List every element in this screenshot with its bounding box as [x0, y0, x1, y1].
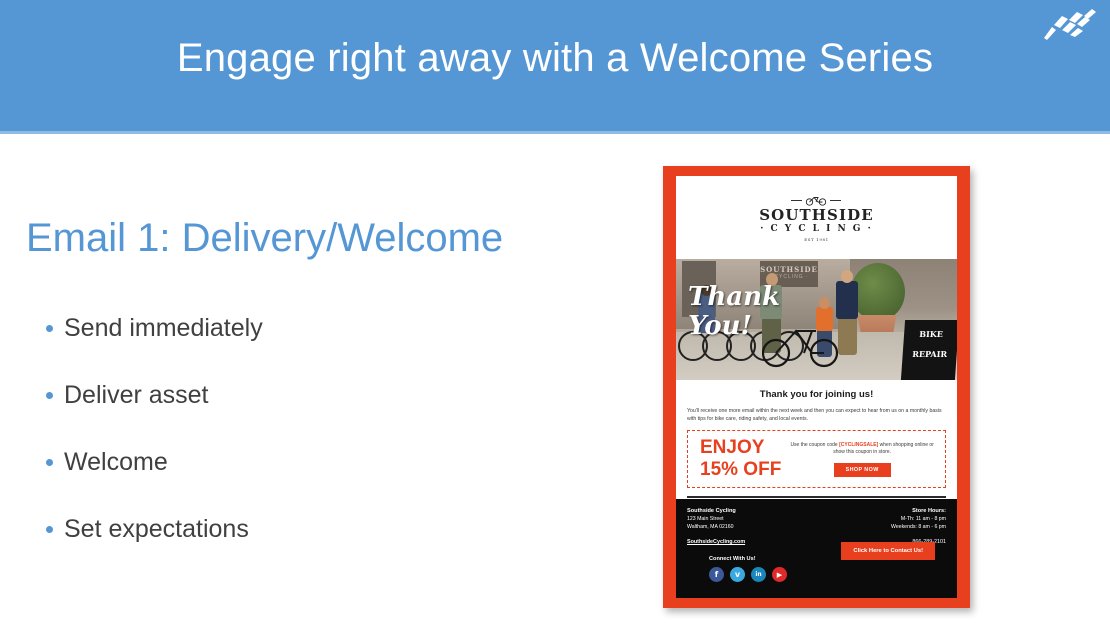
footer-website-link[interactable]: SouthsideCycling.com: [687, 539, 745, 545]
email-preview-card: SOUTHSIDE · C Y C L I N G · EST 1981 SOU…: [663, 166, 970, 608]
footer-store-hours: Store Hours: M-Th: 11 am - 8 pm Weekends…: [891, 507, 946, 531]
email-logo-header: SOUTHSIDE · C Y C L I N G · EST 1981: [676, 176, 957, 259]
coupon-details: Use the coupon code [CYCLINGSALE] when s…: [781, 442, 937, 477]
bullet-item: Deliver asset: [46, 383, 566, 408]
coupon-text-before: Use the coupon code: [790, 442, 839, 448]
footer-store-name: Southside Cycling: [687, 507, 736, 515]
email-headline: Thank you for joining us!: [687, 389, 946, 400]
coupon-instructions: Use the coupon code [CYCLINGSALE] when s…: [787, 442, 937, 457]
footer-top-row: Southside Cycling 123 Main Street Waltha…: [687, 507, 946, 531]
footer-hours-line2: Weekends: 8 am - 6 pm: [891, 523, 946, 531]
email-hero-image: SOUTHSIDE · CYCLING ·: [676, 259, 957, 380]
footer-hours-line1: M-Th: 11 am - 8 pm: [891, 515, 946, 523]
slide-header-banner: Engage right away with a Welcome Series: [0, 0, 1110, 131]
bicycle-icon: [805, 194, 827, 206]
logo-established: EST 1981: [759, 238, 874, 242]
footer-hours-label: Store Hours:: [891, 507, 946, 515]
coupon-offer-line2: 15% OFF: [700, 459, 781, 481]
hero-thank-you-overlay: Thank You!: [688, 283, 780, 341]
shop-now-button[interactable]: SHOP NOW: [834, 463, 891, 477]
hero-person: [836, 281, 858, 319]
facebook-icon[interactable]: f: [709, 567, 724, 582]
bullet-dot-icon: [46, 459, 53, 466]
bullet-label: Send immediately: [64, 314, 263, 342]
email-divider: [687, 496, 946, 498]
bullet-dot-icon: [46, 526, 53, 533]
bullet-label: Set expectations: [64, 515, 249, 543]
bullet-item: Set expectations: [46, 517, 566, 542]
bullet-item: Welcome: [46, 450, 566, 475]
bullet-dot-icon: [46, 392, 53, 399]
footer-address-line1: 123 Main Street: [687, 515, 736, 523]
logo-brand-subtitle: · C Y C L I N G ·: [759, 225, 874, 234]
hero-child-head: [819, 297, 830, 309]
left-content-column: Email 1: Delivery/Welcome Send immediate…: [0, 150, 620, 620]
hero-bike-repair-sign: BIKE REPAIR: [901, 320, 957, 380]
hero-thank-you-line1: Thank: [688, 283, 780, 312]
bullet-item: Send immediately: [46, 316, 566, 341]
social-icons-row: f ᴠ in ▶: [709, 567, 946, 582]
logo-rule-left: [791, 200, 802, 201]
slide-title: Engage right away with a Welcome Series: [0, 36, 1110, 81]
twitter-icon[interactable]: ᴠ: [730, 567, 745, 582]
email-body: SOUTHSIDE · C Y C L I N G · EST 1981 SOU…: [676, 176, 957, 598]
bullet-label: Welcome: [64, 448, 168, 476]
footer-address-line2: Waltham, MA 02160: [687, 523, 736, 531]
logo-brand-name: SOUTHSIDE: [759, 208, 874, 223]
email-footer: Southside Cycling 123 Main Street Waltha…: [676, 499, 957, 598]
email-content-area: Thank you for joining us! You'll receive…: [676, 380, 957, 498]
hero-thank-you-line2: You!: [688, 312, 780, 341]
bullet-label: Deliver asset: [64, 381, 209, 409]
coupon-offer-line1: ENJOY: [700, 437, 781, 459]
hero-bike-repair-line2: REPAIR: [902, 349, 957, 360]
linkedin-icon[interactable]: in: [751, 567, 766, 582]
youtube-icon[interactable]: ▶: [772, 567, 787, 582]
footer-connect-area: Connect With Us! f ᴠ in ▶ Click Here to …: [687, 556, 946, 582]
hero-person-legs: [838, 317, 857, 355]
bullet-dot-icon: [46, 325, 53, 332]
coupon-offer: ENJOY 15% OFF: [696, 437, 781, 481]
footer-address: Southside Cycling 123 Main Street Waltha…: [687, 507, 736, 531]
bicycle-icon-row: [759, 193, 874, 207]
bullet-list: Send immediately Deliver asset Welcome S…: [46, 316, 566, 584]
banner-underline: [0, 131, 1110, 134]
hero-tree: [851, 263, 905, 321]
coupon-box: ENJOY 15% OFF Use the coupon code [CYCLI…: [687, 430, 946, 488]
section-title: Email 1: Delivery/Welcome: [26, 216, 503, 261]
hero-bike-repair-line1: BIKE: [904, 329, 957, 340]
email-paragraph: You'll receive one more email within the…: [687, 407, 946, 423]
coupon-code: [CYCLINGSALE]: [839, 442, 878, 448]
southside-cycling-logo: SOUTHSIDE · C Y C L I N G · EST 1981: [759, 193, 874, 242]
contact-us-button[interactable]: Click Here to Contact Us!: [841, 542, 935, 560]
hero-person-head: [841, 270, 853, 283]
checkered-flag-logo-icon: [1042, 5, 1096, 41]
logo-rule-right: [830, 200, 841, 201]
